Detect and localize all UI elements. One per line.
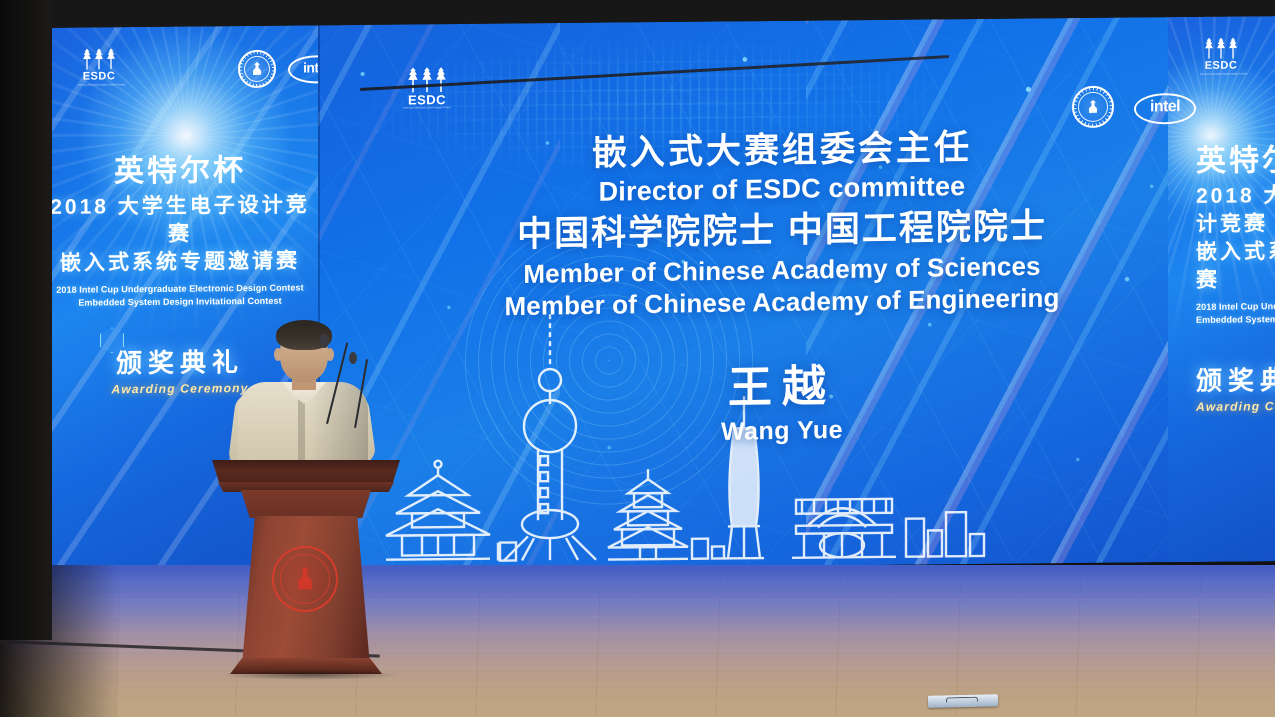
left-panel-logo-row: ESDC Intel Cup Embedded System Design Co… — [42, 41, 318, 98]
podium-floor-shadow — [220, 670, 400, 680]
cable-cover-plate — [928, 694, 998, 708]
esdc-tagline: Intel Cup Embedded System Design Contest — [78, 83, 120, 87]
esdc-logo-right: ESDC Intel Cup Embedded System Design Co… — [1198, 36, 1244, 76]
pagoda-icon — [608, 469, 688, 560]
esdc-wordmark: ESDC — [76, 71, 122, 82]
speaker-left-ear — [274, 348, 282, 361]
esdc-tree-icon — [76, 47, 122, 69]
event-contest-cn: 2018 大学生电子设计竞赛 — [42, 191, 318, 250]
intel-logo: intel — [288, 55, 318, 84]
podium-neck — [232, 490, 380, 518]
podium-university-emblem-icon — [272, 546, 338, 612]
speaker-shirt-placket — [298, 398, 305, 460]
university-seal-icon-center — [1072, 86, 1114, 128]
esdc-tagline-right: Intel Cup Embedded System Design Contest — [1200, 73, 1242, 77]
speaker-person — [238, 324, 368, 464]
microphone-head-2 — [349, 352, 357, 364]
event-subcontest-cn: 嵌入式系统专题邀请赛 — [42, 247, 318, 278]
microphone-head-1 — [320, 334, 329, 348]
floor-screen-reflection — [0, 565, 1275, 635]
podium-desktop — [212, 460, 400, 484]
intel-logo-center: intel — [1134, 93, 1196, 125]
right-panel-logo-row: ESDC Intel Cup Embedded System Design Co… — [1168, 32, 1275, 87]
university-seal-icon — [238, 50, 276, 88]
podium-and-speaker — [208, 300, 408, 670]
esdc-wordmark-center: ESDC — [400, 94, 454, 106]
esdc-logo: ESDC Intel Cup Embedded System Design Co… — [76, 47, 122, 87]
esdc-wordmark-right: ESDC — [1198, 60, 1244, 71]
intel-wordmark: intel — [288, 55, 318, 84]
left-stage-curtain — [0, 0, 52, 640]
esdc-tree-icon-right — [1198, 36, 1244, 58]
esdc-tree-icon-center — [400, 66, 454, 93]
center-title-block: 嵌入式大赛组委会主任 Director of ESDC committee 中国… — [372, 122, 1192, 452]
esdc-tagline-center: Intel Cup Embedded System Design Contest — [402, 106, 452, 110]
bridge-building-icon — [792, 499, 896, 558]
speaker-right-ear — [326, 348, 334, 361]
event-brand-cn: 英特尔杯 — [42, 153, 318, 190]
intel-wordmark-center: intel — [1134, 93, 1196, 125]
stage-floor — [0, 565, 1275, 717]
stage-photo: ESDC Intel Cup Embedded System Design Co… — [0, 0, 1275, 717]
